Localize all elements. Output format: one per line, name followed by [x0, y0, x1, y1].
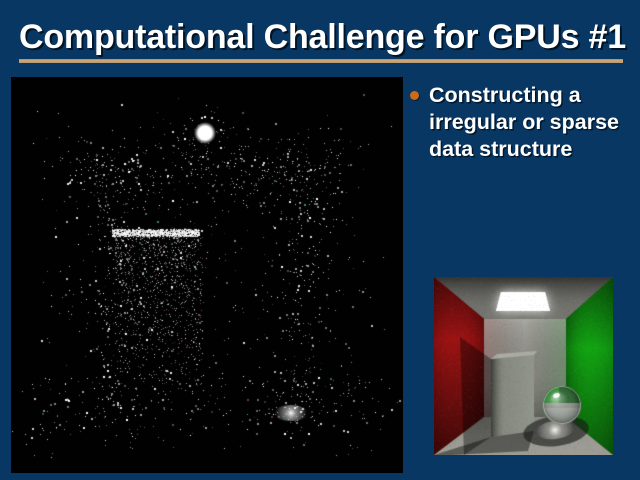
cornell-box-figure	[434, 277, 613, 455]
bullet-list: Constructing a irregular or sparse data …	[410, 82, 636, 163]
list-item: Constructing a irregular or sparse data …	[410, 82, 636, 163]
title-divider	[19, 59, 623, 63]
bullet-dot-icon	[410, 91, 419, 100]
photon-map-image	[11, 77, 403, 473]
photon-map-figure	[11, 77, 403, 473]
bullet-text: Constructing a irregular or sparse data …	[429, 82, 636, 163]
cornell-box-image	[434, 277, 613, 455]
slide-canvas: Computational Challenge for GPUs #1 Cons…	[0, 0, 640, 480]
page-title: Computational Challenge for GPUs #1	[19, 16, 625, 58]
